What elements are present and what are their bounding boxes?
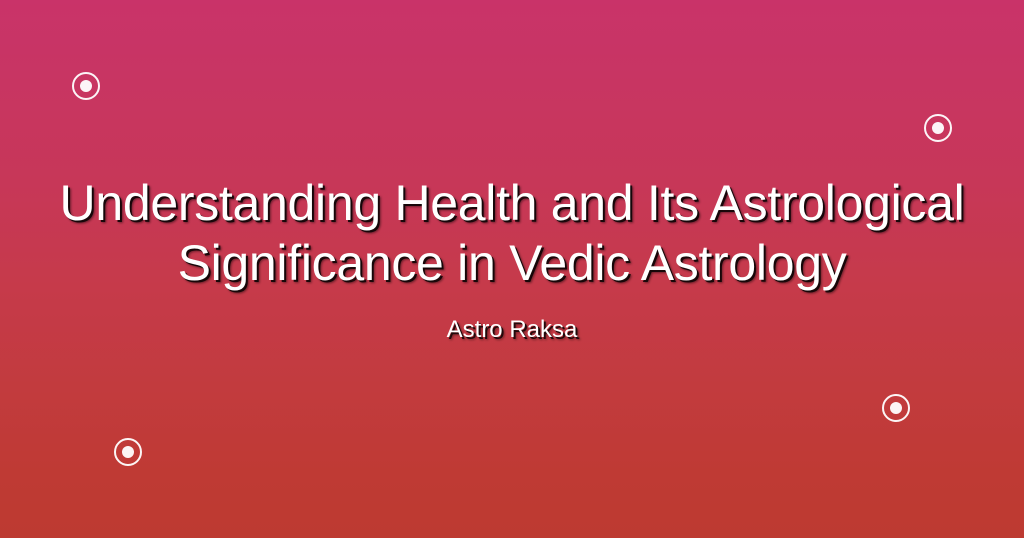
presentation-slide: Understanding Health and Its Astrologica…	[0, 0, 1024, 538]
slide-title: Understanding Health and Its Astrologica…	[52, 173, 972, 293]
slide-content: Understanding Health and Its Astrologica…	[0, 0, 1024, 538]
slide-subtitle: Astro Raksa	[447, 315, 578, 345]
